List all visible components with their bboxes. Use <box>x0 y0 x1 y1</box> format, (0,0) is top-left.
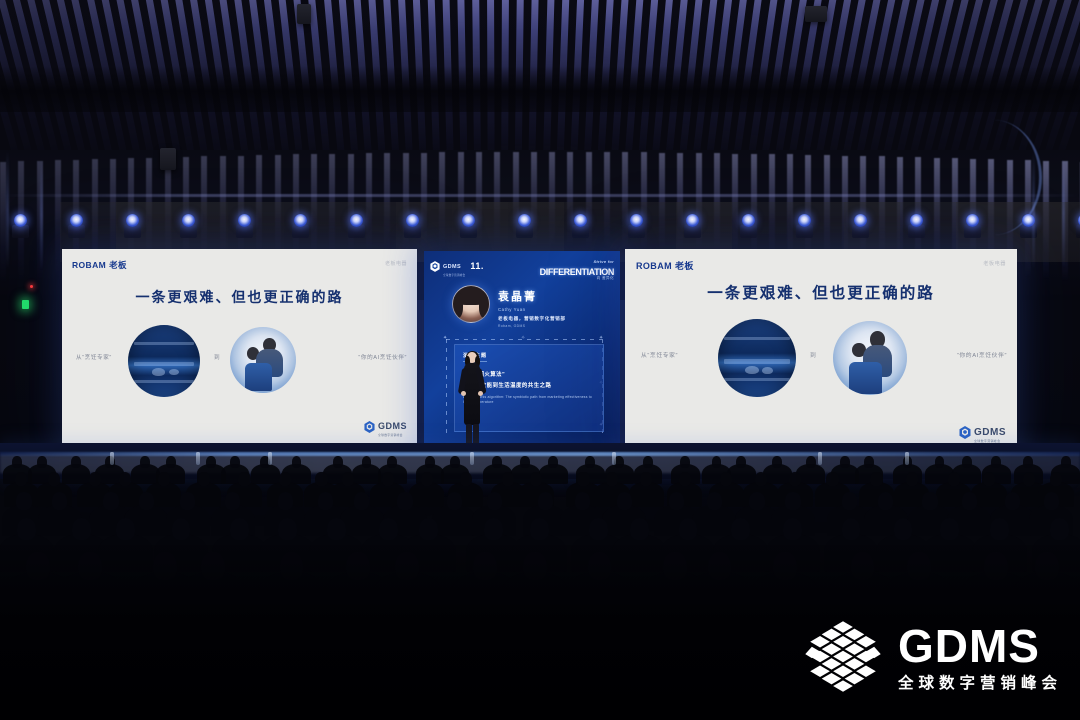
kitchen-circle-image-left <box>128 325 200 397</box>
watermark-title: GDMS <box>898 620 1040 672</box>
slide-headline-right: 一条更艰难、但也更正确的路 <box>625 281 1017 303</box>
water-bottle <box>470 452 474 465</box>
slide-caption-to-left: “你的AI烹饪伙伴” <box>358 353 407 361</box>
center-speaker-screen[interactable]: GDMS 全球数字营销峰会 11. Strive for DIFFERENTIA… <box>424 251 620 455</box>
slide-caption-arrow-right: 到 <box>810 350 816 359</box>
stage-green-indicator <box>22 300 29 309</box>
session-number: 11. <box>470 261 484 271</box>
robam-wordmark: ROBAM <box>636 261 672 271</box>
robam-logo-right: ROBAM老板 <box>636 259 694 272</box>
slide-headline-left: 一条更艰难、但也更正确的路 <box>62 287 417 307</box>
side-beam <box>1032 150 1035 270</box>
spotlight-row <box>0 214 1080 240</box>
theme-line-3: 向 差异化 <box>540 277 614 281</box>
hanging-speaker-right <box>805 6 827 22</box>
theme-line-1: Strive for <box>593 259 614 264</box>
frame-dash-left <box>446 339 447 437</box>
screen-corner-text-left: 老板电器 <box>385 260 407 267</box>
water-bottle <box>612 452 616 465</box>
water-bottle <box>196 452 200 465</box>
water-bottle <box>110 452 114 465</box>
water-bottle <box>268 452 272 465</box>
water-bottle <box>818 452 822 465</box>
gdms-watermark: GDMS 全球数字营销峰会 <box>802 618 1062 700</box>
hanging-speaker-left <box>160 148 176 170</box>
left-projection-screen[interactable]: ROBAM老板 老板电器 一条更艰难、但也更正确的路 从“烹饪专家” 到 “你的… <box>62 249 417 445</box>
watermark-text: GDMS 全球数字营销峰会 <box>898 625 1062 693</box>
frame-dot-tr: ✦ <box>599 336 603 341</box>
frame-dot-tl: ✦ <box>443 336 447 341</box>
hanging-speaker-center <box>297 4 311 24</box>
speaker-name-cn: 袁晶菁 <box>498 291 537 303</box>
gdms-text-center: GDMS <box>443 264 461 270</box>
gdms-sub-center: 全球数字营销峰会 <box>443 273 465 277</box>
speaker-title-en: Robam, GDMS <box>498 324 566 328</box>
robam-logo-left: ROBAM老板 <box>72 259 127 271</box>
slide-caption-arrow-left: 到 <box>214 353 220 361</box>
side-beam <box>1062 158 1065 268</box>
stage-red-indicator <box>30 285 33 288</box>
robam-wordmark-cn: 老板 <box>675 261 694 271</box>
side-beam <box>6 150 9 270</box>
screen-corner-text-right: 老板电器 <box>983 260 1006 267</box>
frame-dot-tc: ✧ <box>521 336 525 341</box>
family-circle-image-right <box>833 321 907 395</box>
side-beam <box>40 160 43 270</box>
conference-stage-scene: ROBAM老板 老板电器 一条更艰难、但也更正确的路 从“烹饪专家” 到 “你的… <box>0 0 1080 720</box>
speaker-name-block: 袁晶菁 Cathy Yuan 老板电器，营销数字化营销部 Robam, GDMS <box>498 287 566 328</box>
right-projection-screen[interactable]: ROBAM老板 老板电器 一条更艰难、但也更正确的路 从“烹饪专家” 到 “你的… <box>625 249 1017 452</box>
speaker-title-cn: 老板电器，营销数字化营销部 <box>498 316 566 322</box>
gdms-hex-icon <box>430 261 440 272</box>
family-circle-image-left <box>230 327 296 393</box>
slide-caption-to-right: “你的AI烹饪伙伴” <box>957 350 1007 359</box>
watermark-subtitle: 全球数字营销峰会 <box>898 671 1062 693</box>
robam-wordmark-cn: 老板 <box>109 260 127 270</box>
speaker-name-en: Cathy Yuan <box>498 307 566 312</box>
speaker-portrait-avatar <box>452 285 490 323</box>
event-theme-lockup: Strive for DIFFERENTIATION 向 差异化 <box>540 251 614 280</box>
gdms-logo-center: GDMS 全球数字营销峰会 <box>430 255 465 277</box>
kitchen-circle-image-right <box>718 319 796 397</box>
slide-caption-from-left: 从“烹饪专家” <box>76 353 112 361</box>
hex-snowflake-icon <box>802 618 884 700</box>
ceiling-shadow-band <box>0 66 1080 112</box>
center-screen-topbar: GDMS 全球数字营销峰会 11. Strive for DIFFERENTIA… <box>430 256 614 276</box>
water-bottle <box>905 452 909 465</box>
robam-wordmark: ROBAM <box>72 260 106 270</box>
slide-caption-from-right: 从“烹饪专家” <box>641 350 678 359</box>
